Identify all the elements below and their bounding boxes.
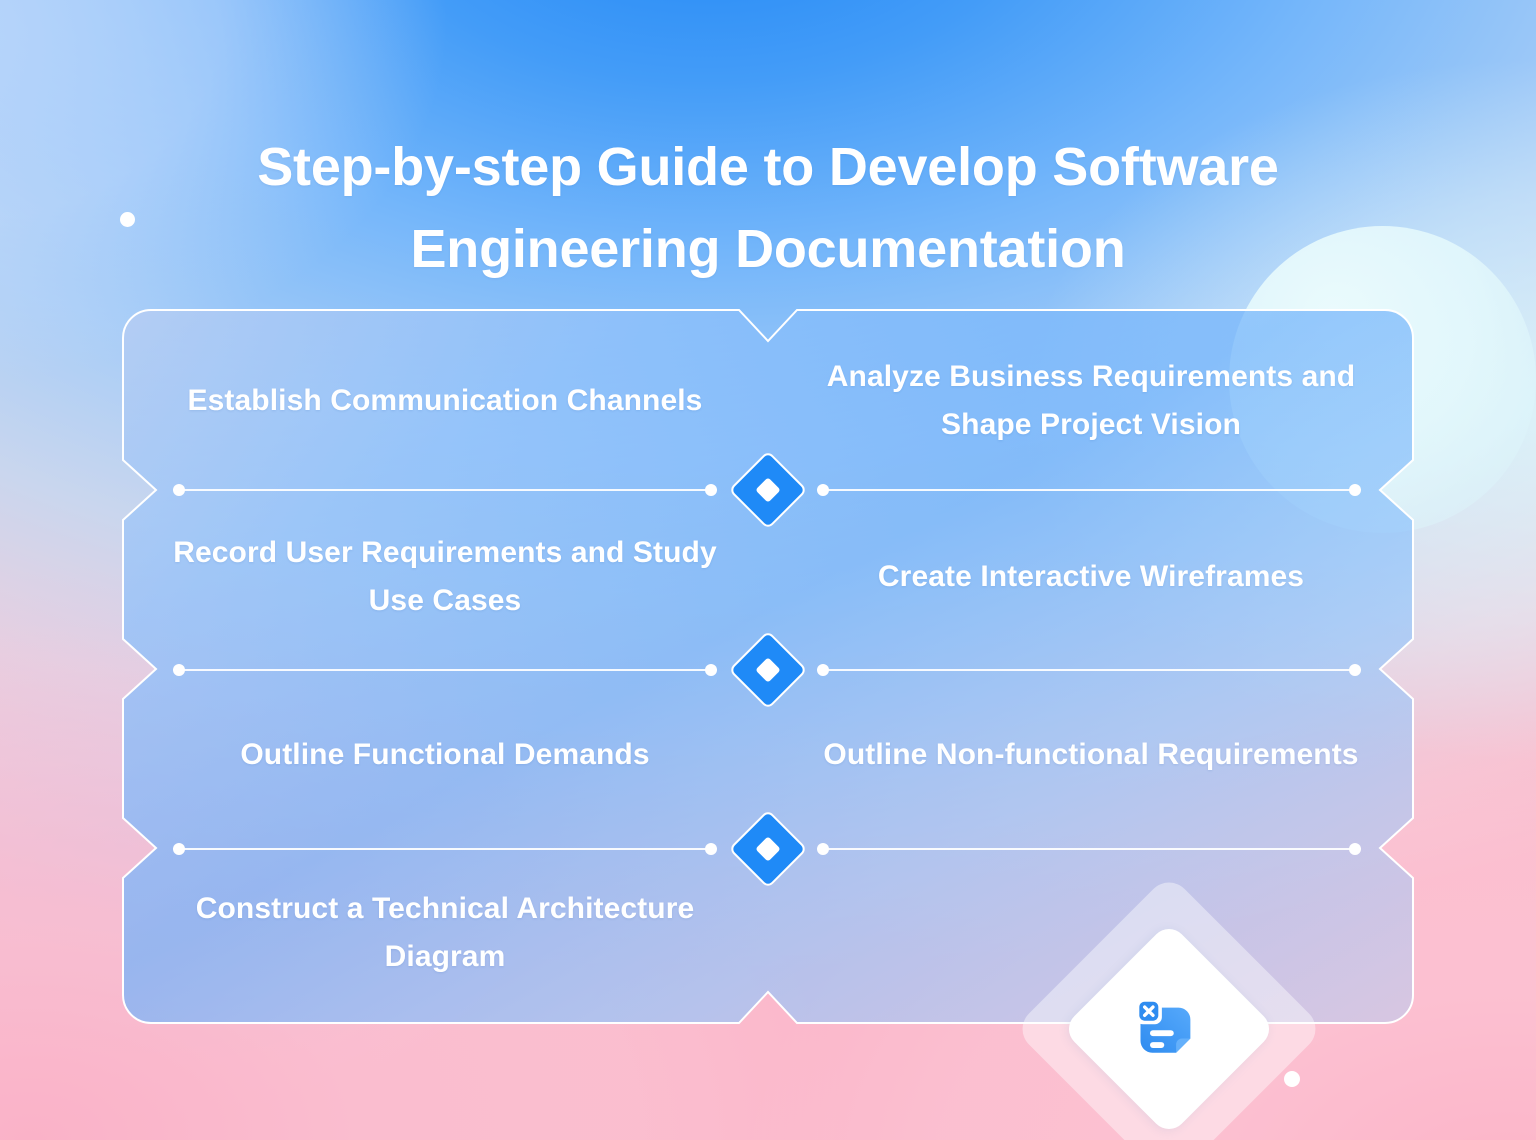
- divider-dot: [705, 843, 717, 855]
- divider-line-left: [178, 848, 711, 850]
- infographic-canvas: Step-by-step Guide to Develop Software E…: [0, 0, 1536, 1140]
- page-title: Step-by-step Guide to Develop Software E…: [168, 126, 1368, 290]
- document-x-icon-svg: [1131, 991, 1207, 1067]
- divider-dot: [173, 484, 185, 496]
- step-cell-left[interactable]: Record User Requirements and Study Use C…: [122, 517, 768, 637]
- document-x-icon: [1125, 985, 1213, 1073]
- divider-dot: [173, 843, 185, 855]
- step-cell-left[interactable]: Outline Functional Demands: [122, 695, 768, 815]
- divider-line-right: [822, 669, 1355, 671]
- brand-badge: [1042, 902, 1296, 1140]
- step-label: Establish Communication Channels: [188, 377, 703, 425]
- divider-line-right: [822, 489, 1355, 491]
- divider-dot: [705, 484, 717, 496]
- step-label: Create Interactive Wireframes: [878, 553, 1304, 601]
- step-label: Construct a Technical Architecture Diagr…: [156, 885, 734, 981]
- step-label: Record User Requirements and Study Use C…: [156, 529, 734, 625]
- step-cell-right[interactable]: Outline Non-functional Requirements: [768, 695, 1414, 815]
- step-label: Analyze Business Requirements and Shape …: [802, 353, 1380, 449]
- step-cell-right[interactable]: Analyze Business Requirements and Shape …: [768, 341, 1414, 461]
- divider-dot: [173, 664, 185, 676]
- divider-dot: [817, 484, 829, 496]
- divider-line-right: [822, 848, 1355, 850]
- divider-dot: [1349, 664, 1361, 676]
- divider-dot: [1349, 484, 1361, 496]
- divider-dot: [817, 843, 829, 855]
- step-label: Outline Functional Demands: [240, 731, 649, 779]
- divider-dot: [705, 664, 717, 676]
- step-row: Establish Communication Channels Analyze…: [122, 341, 1414, 461]
- step-row: Record User Requirements and Study Use C…: [122, 517, 1414, 637]
- decorative-dot-top-left: [120, 212, 135, 227]
- step-cell-left[interactable]: Establish Communication Channels: [122, 341, 768, 461]
- step-row: Outline Functional Demands Outline Non-f…: [122, 695, 1414, 815]
- divider-dot: [817, 664, 829, 676]
- divider-dot: [1349, 843, 1361, 855]
- step-cell-left[interactable]: Construct a Technical Architecture Diagr…: [122, 873, 768, 993]
- step-label: Outline Non-functional Requirements: [823, 731, 1358, 779]
- divider-line-left: [178, 489, 711, 491]
- divider-line-left: [178, 669, 711, 671]
- step-cell-right[interactable]: Create Interactive Wireframes: [768, 517, 1414, 637]
